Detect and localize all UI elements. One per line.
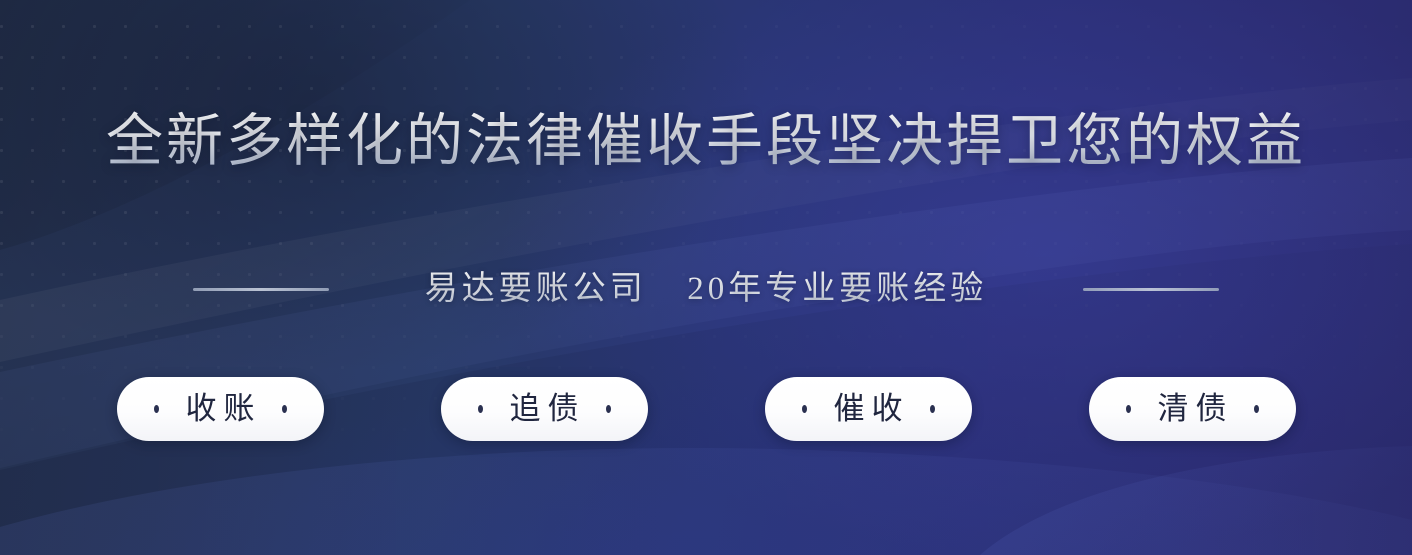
divider-left <box>193 288 329 291</box>
service-pill-qingzhai[interactable]: 清债 <box>1089 377 1296 441</box>
promo-banner: 全新多样化的法律催收手段坚决捍卫您的权益 易达要账公司 20年专业要账经验 收账… <box>0 0 1412 555</box>
bullet-dot-icon <box>606 405 611 413</box>
subtitle-row: 易达要账公司 20年专业要账经验 <box>0 266 1412 312</box>
service-pill-label: 清债 <box>1151 389 1234 429</box>
service-pill-label: 收账 <box>179 389 262 429</box>
service-pill-shouzhang[interactable]: 收账 <box>117 377 324 441</box>
bullet-dot-icon <box>478 405 483 413</box>
bullet-dot-icon <box>1254 405 1259 413</box>
subtitle-experience: 20年专业要账经验 <box>687 271 987 307</box>
service-pill-list: 收账 追债 催收 清债 <box>0 377 1412 441</box>
service-pill-cuishou[interactable]: 催收 <box>765 377 972 441</box>
page-title: 全新多样化的法律催收手段坚决捍卫您的权益 <box>0 106 1412 178</box>
bullet-dot-icon <box>1126 405 1131 413</box>
bullet-dot-icon <box>154 405 159 413</box>
bullet-dot-icon <box>930 405 935 413</box>
bullet-dot-icon <box>282 405 287 413</box>
bullet-dot-icon <box>802 405 807 413</box>
service-pill-label: 追债 <box>503 389 586 429</box>
subtitle-company: 易达要账公司 <box>425 271 647 307</box>
subtitle: 易达要账公司 20年专业要账经验 <box>425 266 988 312</box>
divider-right <box>1083 288 1219 291</box>
service-pill-label: 催收 <box>827 389 910 429</box>
service-pill-zhuizhai[interactable]: 追债 <box>441 377 648 441</box>
banner-content: 全新多样化的法律催收手段坚决捍卫您的权益 易达要账公司 20年专业要账经验 收账… <box>0 0 1412 555</box>
